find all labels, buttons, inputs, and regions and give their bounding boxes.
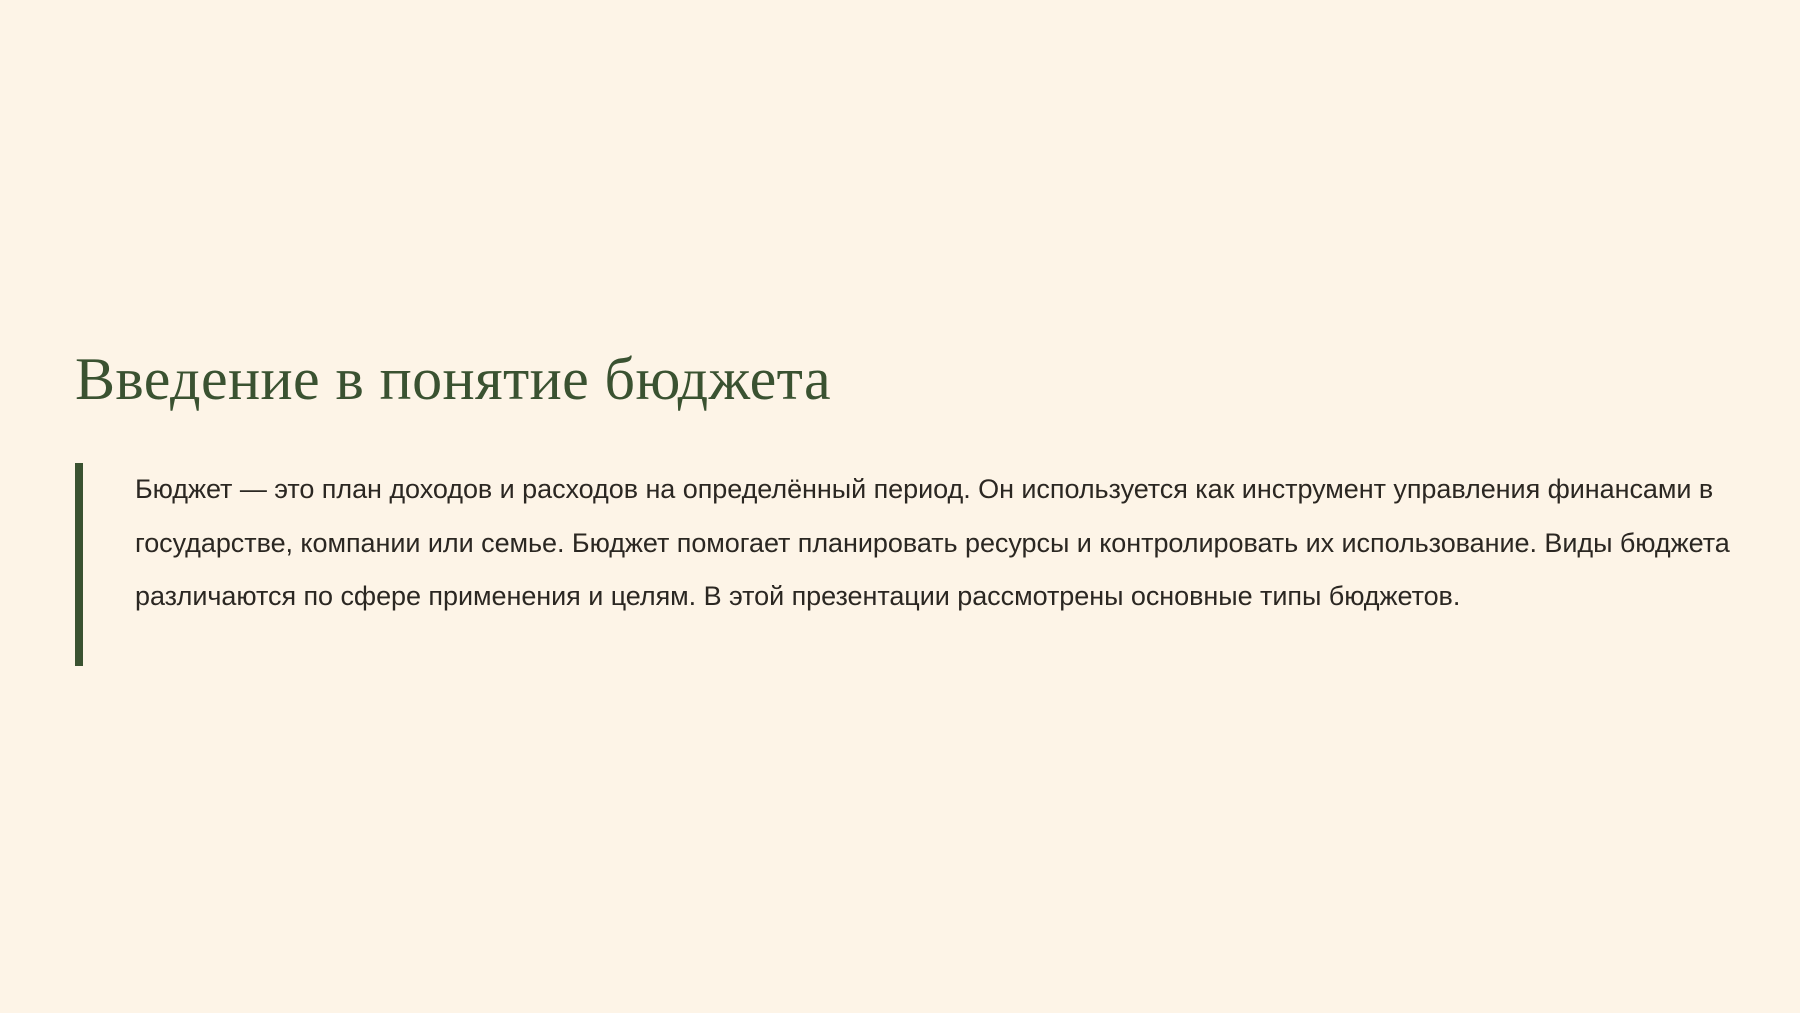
body-text-container: Бюджет — это план доходов и расходов на … <box>83 463 1755 666</box>
body-paragraph: Бюджет — это план доходов и расходов на … <box>135 463 1745 624</box>
page-title: Введение в понятие бюджета <box>75 348 831 412</box>
body-callout: Бюджет — это план доходов и расходов на … <box>75 463 1755 666</box>
accent-bar <box>75 463 83 666</box>
presentation-slide: Введение в понятие бюджета Бюджет — это … <box>0 0 1800 1013</box>
